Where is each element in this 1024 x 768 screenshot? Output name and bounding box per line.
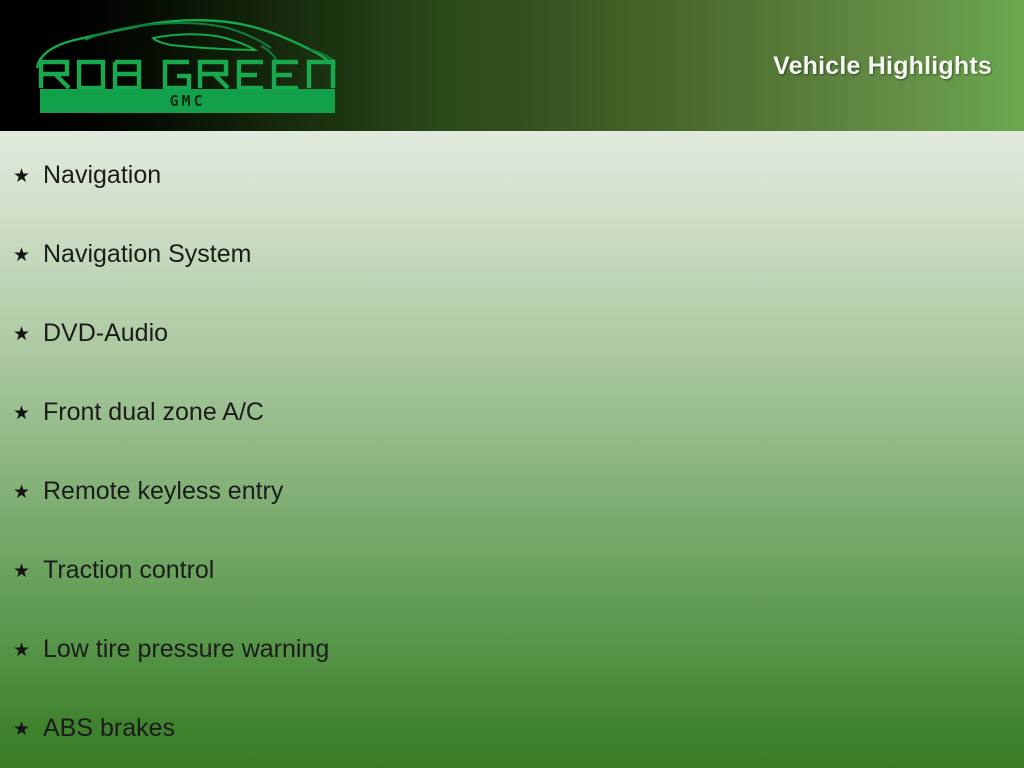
list-item-label: Navigation System: [43, 241, 251, 269]
list-item-label: Remote keyless entry: [43, 478, 283, 506]
list-item: ★ Traction control: [13, 554, 214, 588]
star-bullet-icon: ★: [13, 483, 43, 502]
star-bullet-icon: ★: [13, 562, 43, 581]
vehicle-highlights-slide: GMC Vehicle Highlights ★ Navigation ★ Na…: [0, 0, 1024, 768]
list-item: ★ ABS brakes: [13, 712, 175, 746]
star-bullet-icon: ★: [13, 641, 43, 660]
list-item-label: ABS brakes: [43, 715, 175, 743]
list-item: ★ Navigation: [13, 159, 161, 193]
list-item: ★ Low tire pressure warning: [13, 633, 329, 667]
star-bullet-icon: ★: [13, 720, 43, 739]
star-bullet-icon: ★: [13, 325, 43, 344]
list-item: ★ DVD-Audio: [13, 317, 168, 351]
slide-header: GMC Vehicle Highlights: [0, 0, 1024, 131]
brand-bar: GMC: [40, 89, 335, 113]
dealer-logo: GMC: [33, 18, 338, 115]
list-item: ★ Remote keyless entry: [13, 475, 283, 509]
star-bullet-icon: ★: [13, 246, 43, 265]
vehicle-highlights-list: ★ Navigation ★ Navigation System ★ DVD-A…: [0, 131, 1024, 768]
brand-label: GMC: [40, 89, 335, 113]
list-item-label: Traction control: [43, 557, 214, 585]
dealer-name-wordmark: [37, 56, 337, 90]
list-item-label: DVD-Audio: [43, 320, 168, 348]
list-item-label: Navigation: [43, 162, 161, 190]
star-bullet-icon: ★: [13, 404, 43, 423]
list-item-label: Front dual zone A/C: [43, 399, 264, 427]
list-item: ★ Navigation System: [13, 238, 251, 272]
star-bullet-icon: ★: [13, 167, 43, 186]
page-title: Vehicle Highlights: [773, 52, 992, 81]
list-item: ★ Front dual zone A/C: [13, 396, 264, 430]
list-item-label: Low tire pressure warning: [43, 636, 329, 664]
